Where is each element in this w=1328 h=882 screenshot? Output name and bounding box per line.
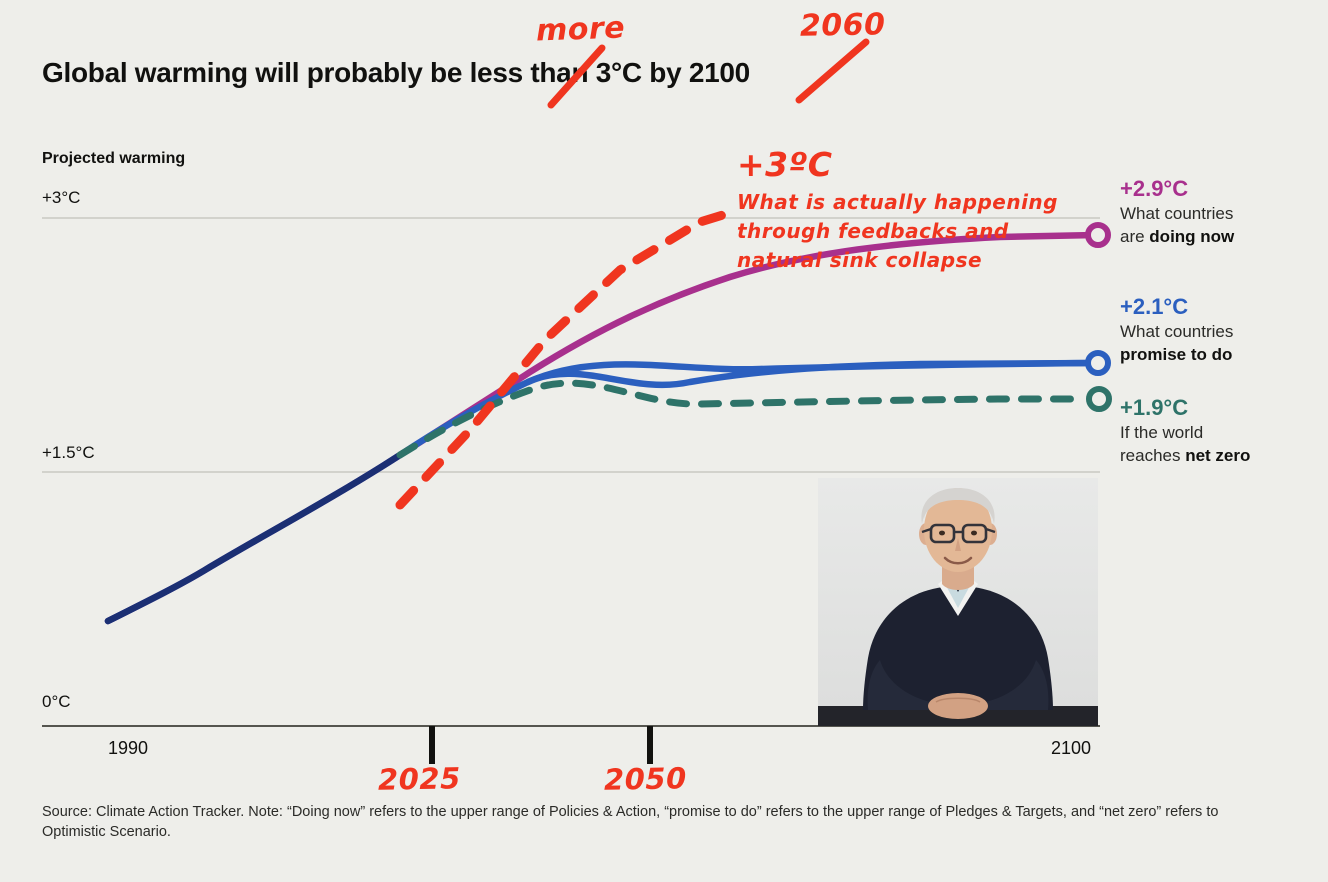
annotation-x-2025: 2025: [378, 761, 461, 796]
annotation-callout-line2: through feedbacks and: [737, 217, 1058, 246]
portrait-illustration: [818, 478, 1098, 726]
annotation-callout-value: +3ºC: [737, 148, 1058, 182]
legend-desc-promise-line2: promise to do: [1120, 343, 1233, 366]
endpoint-marker-promise: [1088, 353, 1108, 373]
annotation-x-2050: 2050: [604, 761, 687, 796]
endpoint-marker-net-zero: [1089, 389, 1109, 409]
legend-value-promise: +2.1°C: [1120, 294, 1233, 320]
legend-bold-doing-now: doing now: [1149, 227, 1234, 246]
legend-desc-doing-now-line1: What countries: [1120, 202, 1234, 225]
series-line-historical: [108, 455, 400, 621]
infographic-root: Global warming will probably be less tha…: [0, 0, 1328, 882]
legend-plain-doing-now: are: [1120, 227, 1149, 246]
legend-desc-doing-now-line2: are doing now: [1120, 225, 1234, 248]
annotation-callout-line3: natural sink collapse: [737, 246, 1058, 275]
legend-desc-net-zero-line1: If the world: [1120, 421, 1250, 444]
legend-bold-promise: promise to do: [1120, 345, 1232, 364]
legend-value-net-zero: +1.9°C: [1120, 395, 1250, 421]
source-note: Source: Climate Action Tracker. Note: “D…: [42, 802, 1247, 842]
legend-net-zero: +1.9°C If the world reaches net zero: [1120, 395, 1250, 467]
annotation-callout-line1: What is actually happening: [737, 188, 1058, 217]
endpoint-marker-doing-now: [1088, 225, 1108, 245]
legend-plain-net-zero: reaches: [1120, 446, 1185, 465]
legend-promise: +2.1°C What countries promise to do: [1120, 294, 1233, 366]
legend-desc-net-zero-line2: reaches net zero: [1120, 444, 1250, 467]
annotation-callout: +3ºC What is actually happening through …: [737, 148, 1058, 275]
annotation-red-dashed-trajectory: [400, 214, 726, 505]
legend-doing-now: +2.9°C What countries are doing now: [1120, 176, 1234, 248]
legend-bold-net-zero: net zero: [1185, 446, 1250, 465]
legend-desc-promise-line1: What countries: [1120, 320, 1233, 343]
portrait-photo: [818, 478, 1098, 726]
legend-value-doing-now: +2.9°C: [1120, 176, 1234, 202]
